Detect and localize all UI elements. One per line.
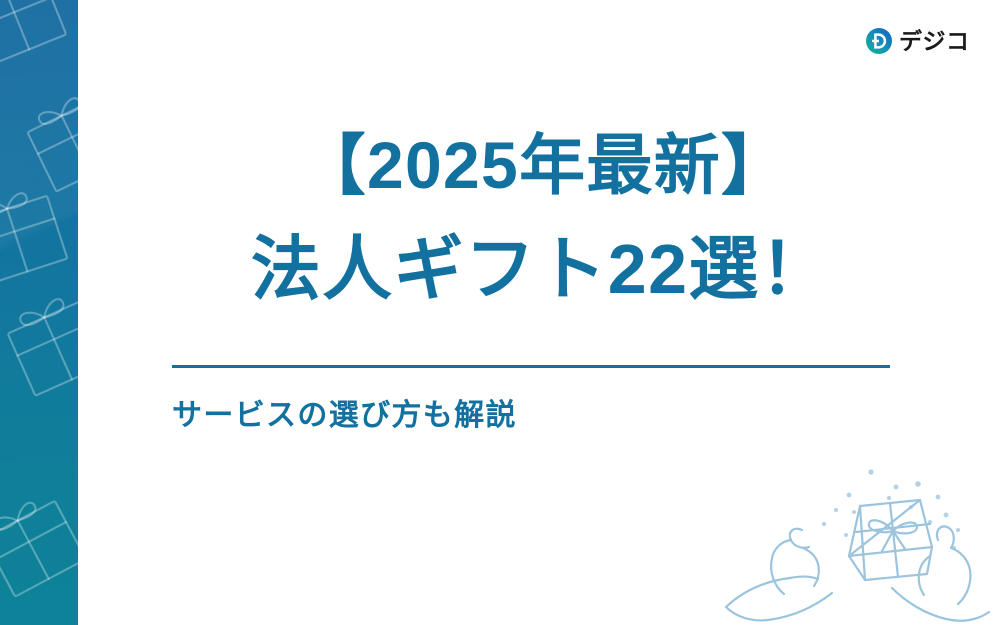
- right-hand: [892, 526, 989, 620]
- title-line-2: 法人ギフト22選！: [78, 234, 1000, 304]
- digico-circle-icon: [866, 28, 892, 54]
- decorative-sidebar: [0, 0, 78, 625]
- hero-subtitle: サービスの選び方も解説: [172, 398, 517, 434]
- brand-logo[interactable]: デジコ: [866, 28, 987, 54]
- gift-box-pattern-icon: [0, 182, 78, 302]
- slide-canvas: デジコ 【2025年最新】 法人ギフト22選！ サービスの選び方も解説: [0, 0, 1000, 625]
- logo-wordmark: デジコ: [899, 28, 987, 54]
- gift-box-pattern-icon: [0, 486, 78, 616]
- gift-box-pattern-icon: [0, 0, 78, 76]
- hero-heading: 【2025年最新】 法人ギフト22選！: [78, 132, 1000, 304]
- left-hand: [726, 529, 832, 621]
- svg-text:デジコ: デジコ: [899, 28, 970, 54]
- hands-holding-gift-illustration: [706, 452, 996, 625]
- gift-box-pattern-icon: [0, 286, 78, 411]
- title-line-1: 【2025年最新】: [78, 132, 1000, 198]
- title-divider: [172, 365, 890, 368]
